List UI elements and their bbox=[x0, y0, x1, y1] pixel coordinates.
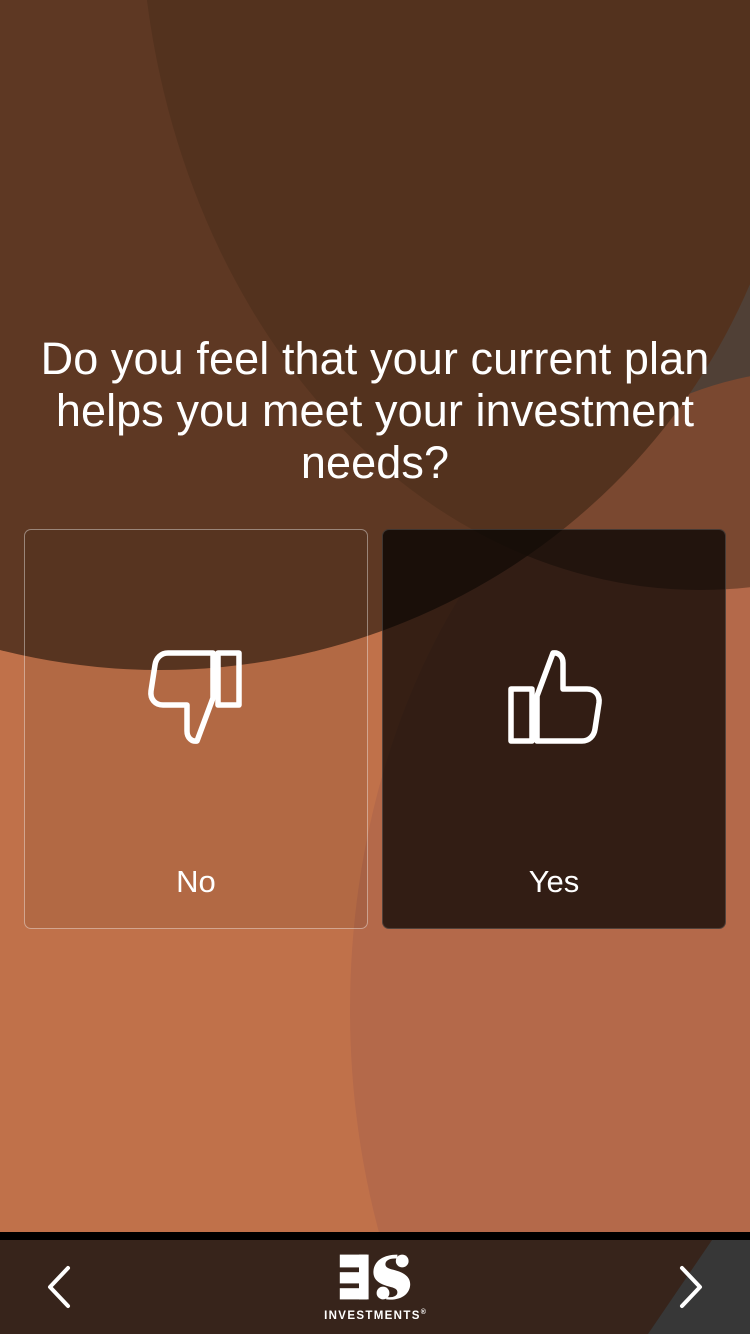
brand-wordmark-text: INVESTMENTS bbox=[324, 1310, 421, 1322]
bottom-navigation-bar: INVESTMENTS® bbox=[0, 1240, 750, 1334]
next-button[interactable] bbox=[630, 1240, 750, 1334]
brand-trademark-icon: ® bbox=[421, 1309, 426, 1316]
answer-label-yes: Yes bbox=[383, 864, 725, 900]
survey-question: Do you feel that your current plan helps… bbox=[28, 333, 722, 489]
previous-button[interactable] bbox=[0, 1240, 120, 1334]
survey-screen: Do you feel that your current plan helps… bbox=[0, 0, 750, 1334]
navbar-divider bbox=[0, 1232, 750, 1240]
es-monogram-logo bbox=[335, 1251, 415, 1303]
answer-option-no[interactable]: No bbox=[24, 529, 368, 929]
brand-wordmark: INVESTMENTS® bbox=[324, 1306, 426, 1323]
thumbs-up-icon bbox=[500, 643, 608, 751]
thumbs-down-icon bbox=[142, 643, 250, 751]
chevron-left-icon bbox=[43, 1262, 77, 1312]
brand-logo[interactable]: INVESTMENTS® bbox=[300, 1248, 450, 1326]
survey-content: Do you feel that your current plan helps… bbox=[0, 0, 750, 1232]
answer-option-yes[interactable]: Yes bbox=[382, 529, 726, 929]
answer-options: No Yes bbox=[24, 529, 726, 929]
chevron-right-icon bbox=[673, 1262, 707, 1312]
answer-label-no: No bbox=[25, 864, 367, 900]
